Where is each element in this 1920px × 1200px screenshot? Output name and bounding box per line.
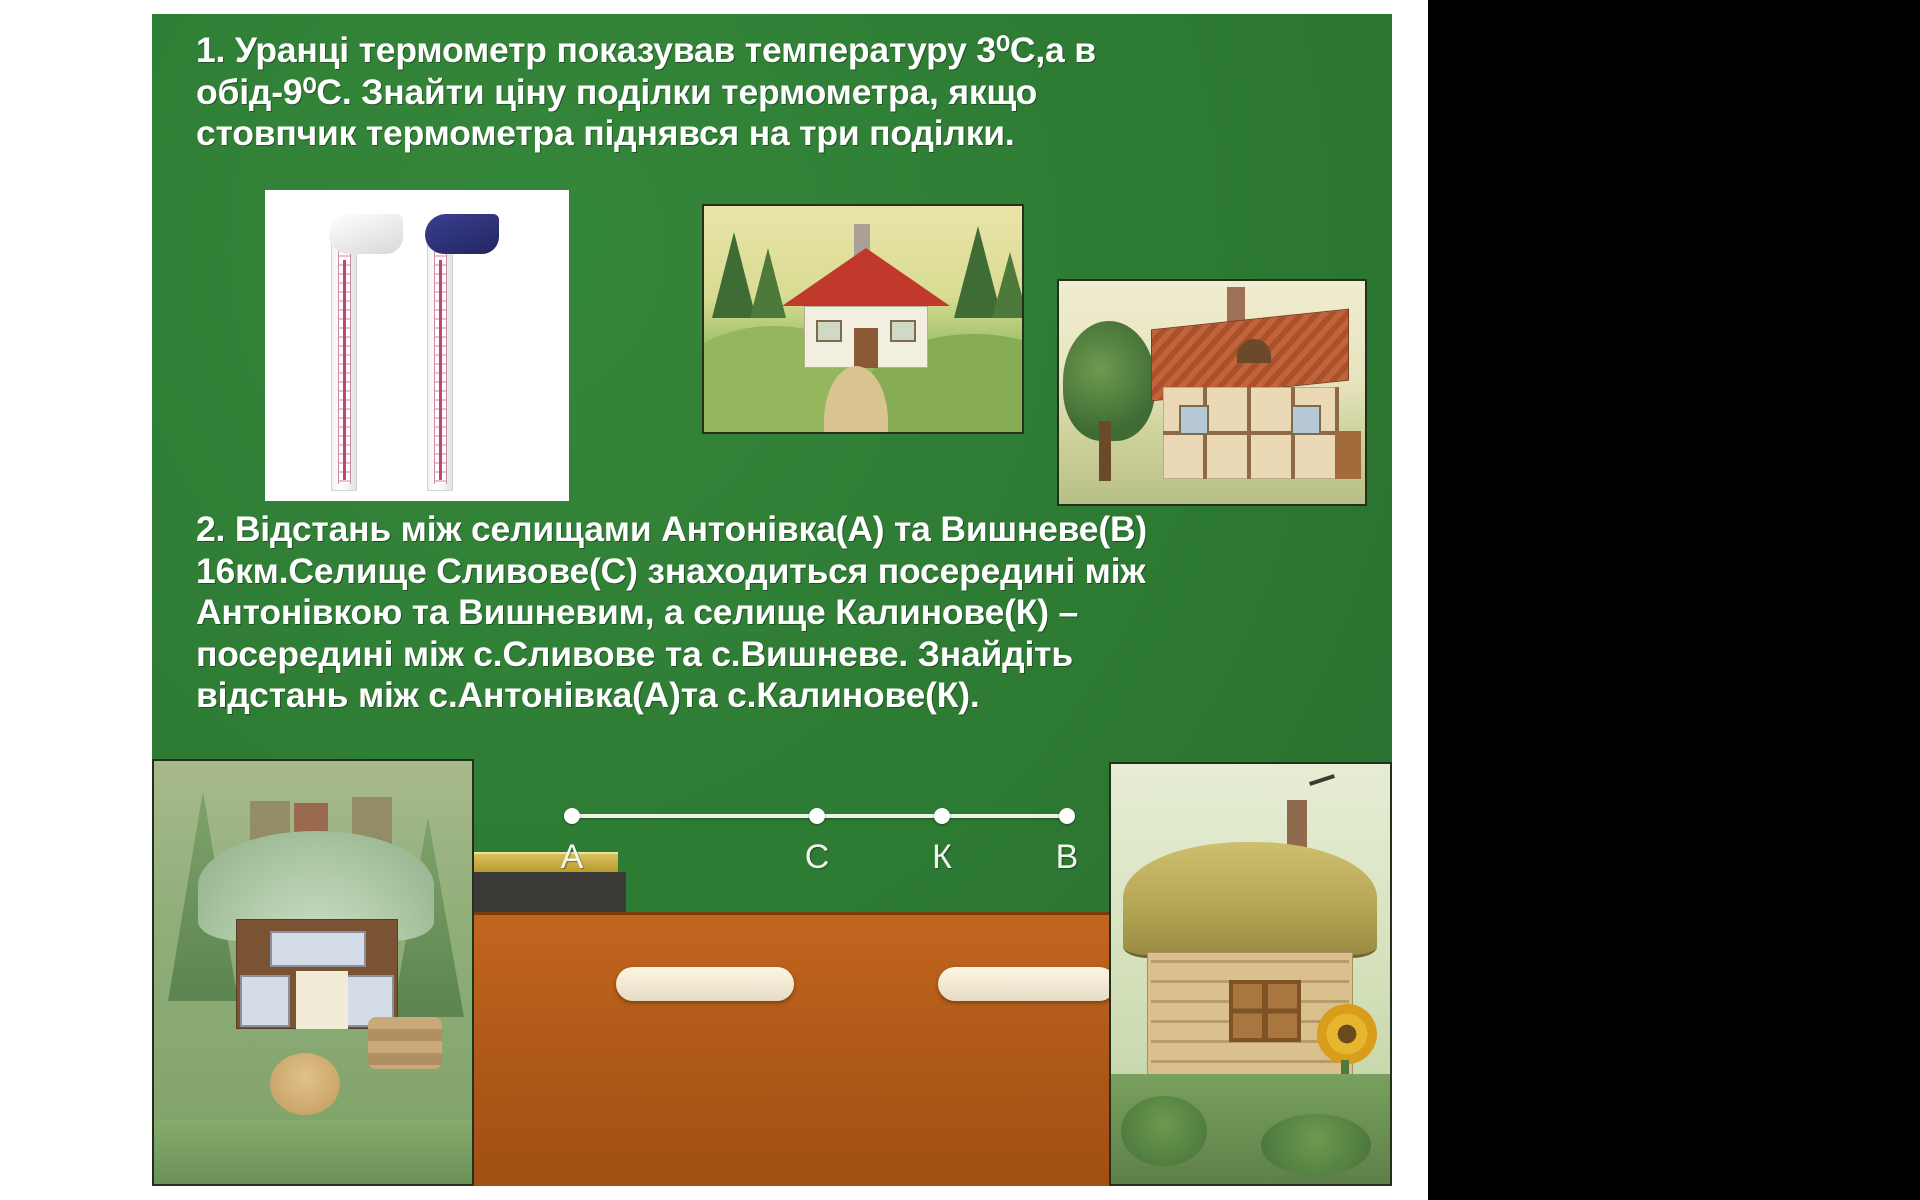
decor-shape: [270, 1053, 340, 1115]
problem-2-line-2-text: 16км.Селище Сливове(С) знаходиться посер…: [196, 551, 1145, 591]
problem-1-line-3-text: стовпчик термометра піднявся на три поді…: [196, 113, 1015, 153]
sunflower-icon: [1317, 1004, 1377, 1064]
roof-shape: [782, 248, 950, 306]
screen: 1. Уранці термометр показував температур…: [0, 0, 1920, 1200]
tree-trunk: [1099, 421, 1111, 481]
segment-point-c[interactable]: [809, 808, 825, 824]
thermometer-column: [439, 260, 442, 480]
problem-1-line-3: стовпчик термометра піднявся на три поді…: [196, 113, 1356, 155]
thermometer-column: [343, 260, 346, 480]
segment-label-k: К: [932, 838, 952, 877]
desk-pad: [938, 967, 1116, 1001]
ground-shape: [154, 1120, 472, 1184]
problem-2-line-1: 2. Відстань між селищами Антонівка(А) та…: [196, 509, 1376, 551]
segment-label-c: С: [805, 838, 830, 877]
window-shape: [890, 320, 916, 342]
bush-shape: [1261, 1114, 1371, 1176]
log-pile: [368, 1017, 442, 1069]
problem-1-line-2-text: обід-9⁰С. Знайти ціну поділки термометра…: [196, 72, 1037, 112]
problem-1-line-1: 1. Уранці термометр показував температур…: [196, 30, 1356, 72]
problem-2-line-5: відстань між с.Антонівка(А)та с.Калинове…: [196, 675, 1376, 717]
letterbox-right: [1428, 0, 1920, 1200]
problem-1-text: 1. Уранці термометр показував температур…: [196, 30, 1356, 155]
thermometer-blue: [427, 239, 453, 491]
chalkboard-slide: 1. Уранці термометр показував температур…: [152, 14, 1392, 1186]
problem-1-line-2: обід-9⁰С. Знайти ціну поділки термометра…: [196, 72, 1356, 114]
page-margin-bottom: [0, 1186, 1428, 1200]
problem-2-line-5-text: відстань між с.Антонівка(А)та с.Калинове…: [196, 675, 980, 715]
problem-2-line-2: 16км.Селище Сливове(С) знаходиться посер…: [196, 551, 1376, 593]
segment-point-k[interactable]: [934, 808, 950, 824]
tree-icon: [992, 252, 1024, 318]
page-margin-top: [0, 0, 1428, 14]
problem-2-line-3-text: Антонівкою та Вишневим, а селище Калинов…: [196, 592, 1078, 632]
bush-shape: [1121, 1096, 1207, 1166]
page-margin-right: [1392, 0, 1428, 1200]
door-shape: [296, 971, 348, 1029]
problem-2-line-3: Антонівкою та Вишневим, а селище Калинов…: [196, 592, 1376, 634]
window-mullion: [1229, 980, 1301, 1042]
thermometer-white: [331, 239, 357, 491]
window-shape: [1291, 405, 1321, 435]
thermometers-photo: [265, 190, 569, 501]
problem-2-line-4: посередині між с.Сливове та с.Вишневе. З…: [196, 634, 1376, 676]
problem-2-text: 2. Відстань між селищами Антонівка(А) та…: [196, 509, 1376, 717]
house-straw-roof-photo: [1109, 762, 1392, 1186]
segment-point-a[interactable]: [564, 808, 580, 824]
house-red-roof-painting: [702, 204, 1024, 434]
thermometer-cap-blue: [425, 214, 499, 254]
segment-point-b[interactable]: [1059, 808, 1075, 824]
page-margin-left: [0, 0, 152, 1200]
desk-pad: [616, 967, 794, 1001]
thermometer-cap-white: [329, 214, 403, 254]
house-tile-roof-painting: [1057, 279, 1367, 506]
roof-shape: [1123, 842, 1377, 958]
problem-2-line-1-text: 2. Відстань між селищами Антонівка(А) та…: [196, 509, 1147, 549]
segment-diagram: А С К В: [572, 792, 1072, 882]
window-shape: [270, 931, 366, 967]
window-shape: [816, 320, 842, 342]
door-shape: [1335, 431, 1361, 479]
segment-label-b: В: [1056, 838, 1079, 877]
house-moss-roof-photo: [152, 759, 474, 1186]
tree-icon: [750, 248, 786, 318]
window-shape: [240, 975, 290, 1027]
door-shape: [854, 328, 878, 368]
problem-1-line-1-text: 1. Уранці термометр показував температур…: [196, 30, 1096, 70]
segment-label-a: А: [561, 838, 584, 877]
window-shape: [1179, 405, 1209, 435]
problem-2-line-4-text: посередині між с.Сливове та с.Вишневе. З…: [196, 634, 1073, 674]
